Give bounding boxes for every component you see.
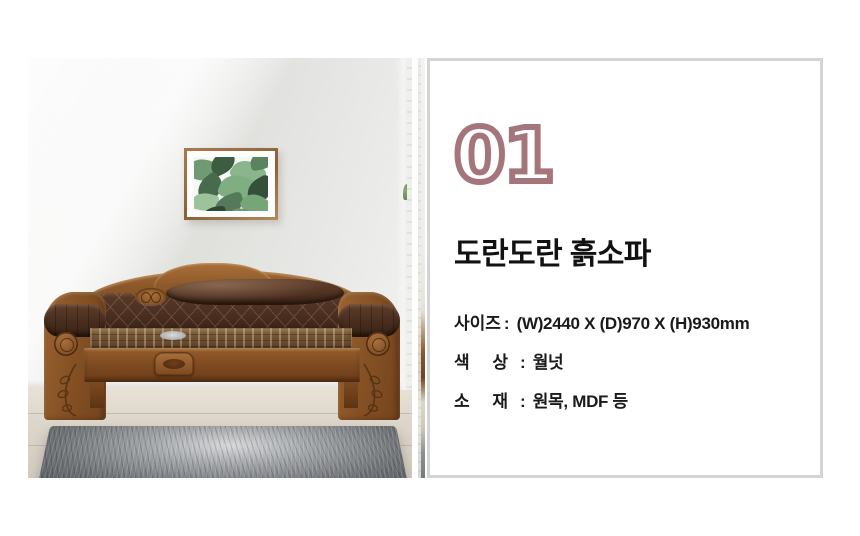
spec-value-material: 원목, MDF 등 bbox=[533, 387, 628, 412]
sofa-back-roll-pillow bbox=[166, 279, 344, 305]
spec-row-material: 소 재 : 원목, MDF 등 bbox=[454, 387, 804, 412]
crest-medallion-carving bbox=[136, 288, 166, 305]
spec-row-color: 색 상 : 월넛 bbox=[454, 348, 804, 373]
framed-art bbox=[184, 148, 278, 220]
page-canvas: 01 도란도란 흙소파 사이즈 : (W)2440 X (D)970 X (H)… bbox=[0, 0, 860, 536]
arm-rosette-carving-left bbox=[54, 332, 78, 356]
spec-value-color: 월넛 bbox=[533, 348, 564, 373]
plant-leaf-icon bbox=[403, 184, 410, 200]
arm-rosette-carving-right bbox=[366, 332, 390, 356]
sofa-seat-stone-mat bbox=[90, 328, 352, 350]
panel-content: 01 도란도란 흙소파 사이즈 : (W)2440 X (D)970 X (H)… bbox=[430, 61, 820, 475]
spec-colon-color: : bbox=[520, 353, 526, 373]
product-photo bbox=[28, 58, 412, 478]
spec-list: 사이즈 : (W)2440 X (D)970 X (H)930mm 색 상 : … bbox=[454, 309, 804, 426]
art-canvas bbox=[194, 157, 268, 211]
apron-medallion-carving bbox=[154, 352, 194, 376]
seat-center-ornament bbox=[160, 331, 186, 340]
spec-label-color: 색 상 bbox=[454, 348, 517, 373]
sofa-leg-right bbox=[344, 382, 358, 408]
product-info-panel: 01 도란도란 흙소파 사이즈 : (W)2440 X (D)970 X (H)… bbox=[427, 58, 823, 478]
art-mat bbox=[187, 151, 275, 217]
spec-row-size: 사이즈 : (W)2440 X (D)970 X (H)930mm bbox=[454, 309, 804, 334]
shag-rug bbox=[37, 426, 410, 478]
spec-colon-material: : bbox=[520, 392, 526, 412]
product-title: 도란도란 흙소파 bbox=[454, 229, 651, 273]
photo-edge-sliver bbox=[418, 58, 425, 478]
spec-colon-size: : bbox=[504, 314, 510, 334]
spec-label-material: 소 재 bbox=[454, 387, 517, 412]
spec-value-size: (W)2440 X (D)970 X (H)930mm bbox=[517, 314, 750, 334]
sofa-front-apron bbox=[84, 348, 360, 382]
sofa bbox=[38, 270, 402, 422]
item-number-badge: 01 bbox=[454, 119, 553, 193]
sofa-leg-left bbox=[90, 382, 104, 408]
spec-label-size: 사이즈 bbox=[454, 309, 501, 334]
